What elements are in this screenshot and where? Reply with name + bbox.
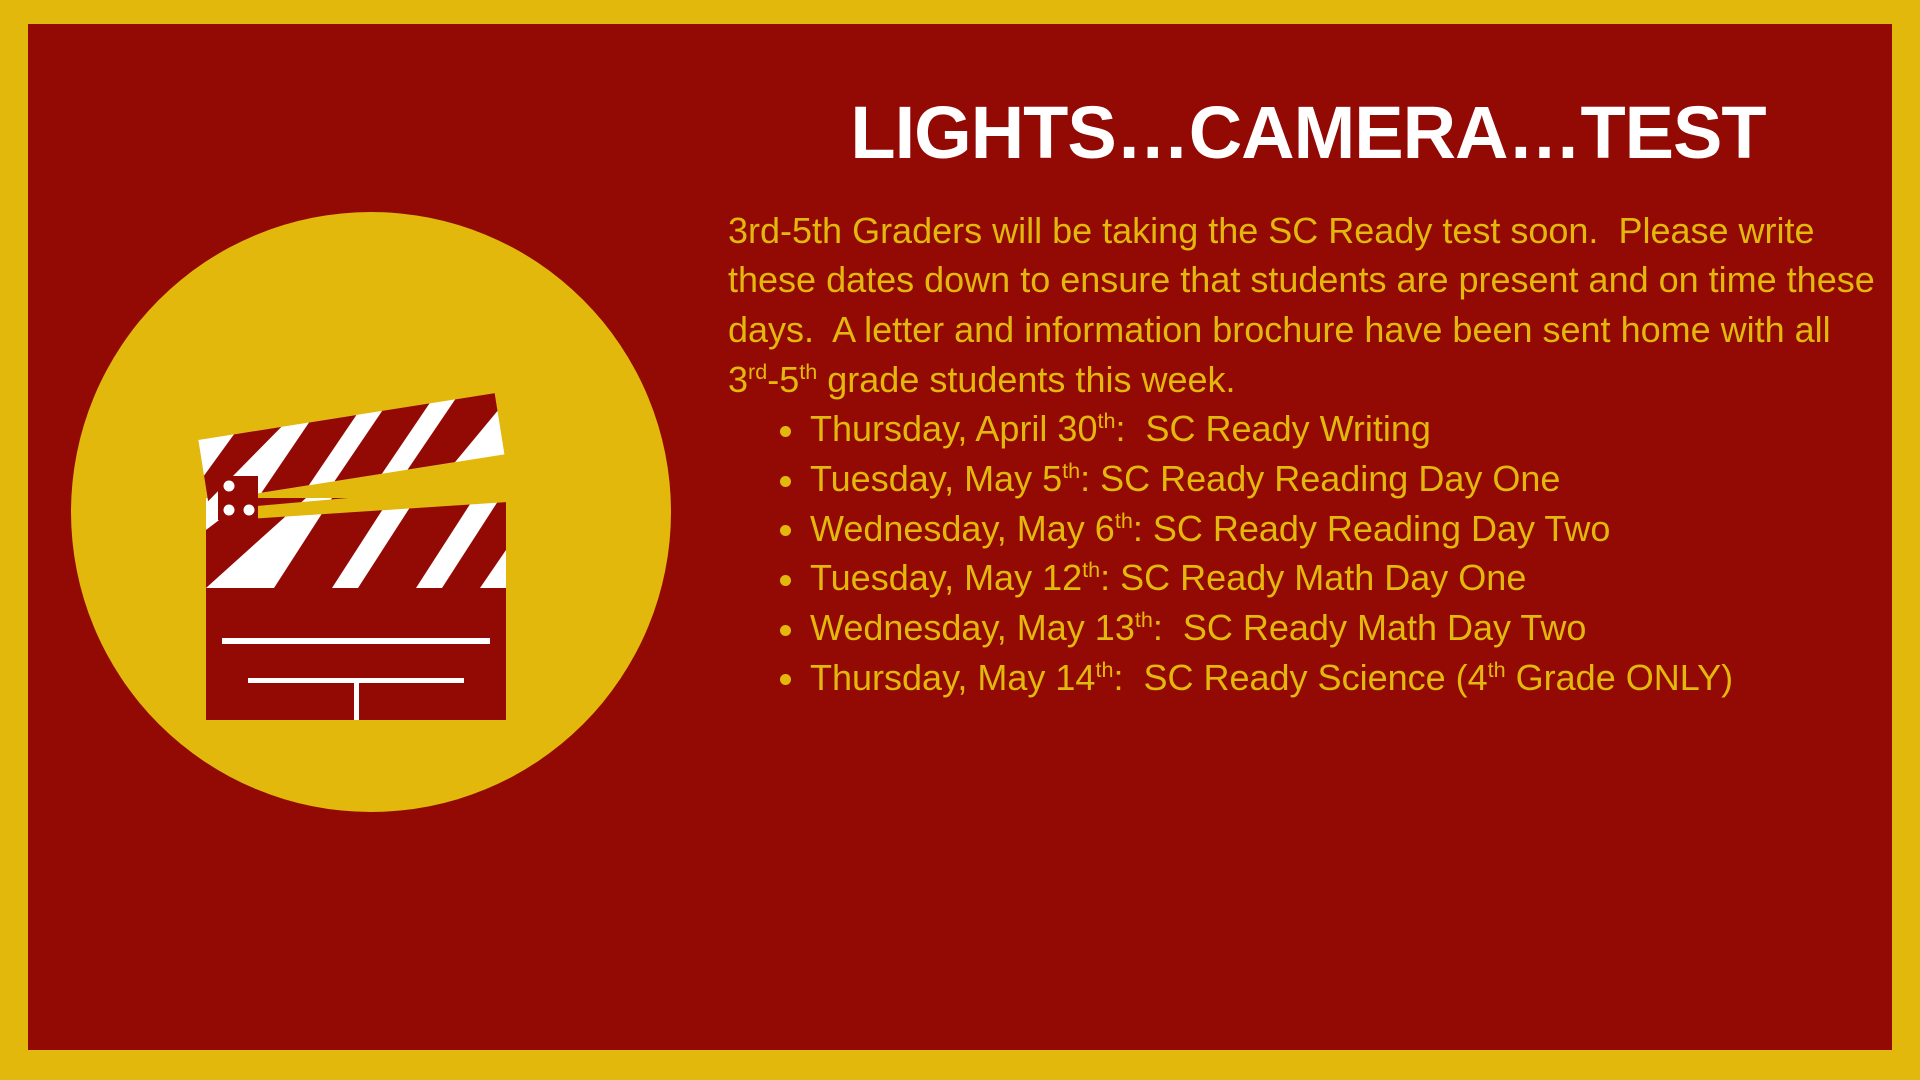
ordinal-superscript: th [1115,508,1133,533]
bullet-dot-icon [780,625,791,636]
poster-root: LIGHTS…CAMERA…TEST 3rd-5th Graders will … [0,0,1920,1080]
bullet-dot-icon [780,575,791,586]
ordinal-superscript: th [1488,657,1506,682]
test-date-item: Wednesday, May 13th: SC Ready Math Day T… [780,603,1888,653]
test-date-item: Thursday, April 30th: SC Ready Writing [780,404,1888,454]
bullet-dot-icon [780,525,791,536]
bullet-dot-icon [780,426,791,437]
ordinal-superscript: rd [748,359,767,384]
test-date-text: Thursday, April 30th: SC Ready Writing [810,408,1431,449]
test-date-text: Tuesday, May 5th: SC Ready Reading Day O… [810,458,1560,499]
bullet-dot-icon [780,674,791,685]
test-date-item: Wednesday, May 6th: SC Ready Reading Day… [780,504,1888,554]
body-block: 3rd-5th Graders will be taking the SC Re… [728,206,1888,703]
test-date-text: Wednesday, May 13th: SC Ready Math Day T… [810,607,1586,648]
ordinal-superscript: th [1095,657,1113,682]
poster-inner-panel: LIGHTS…CAMERA…TEST 3rd-5th Graders will … [28,24,1892,1050]
test-date-text: Tuesday, May 12th: SC Ready Math Day One [810,557,1526,598]
clapperboard-icon [196,380,536,720]
test-date-text: Wednesday, May 6th: SC Ready Reading Day… [810,508,1610,549]
ordinal-superscript: th [1135,607,1153,632]
illustration-area [46,190,686,830]
ordinal-superscript: th [799,359,817,384]
test-date-item: Thursday, May 14th: SC Ready Science (4t… [780,653,1888,703]
test-date-item: Tuesday, May 12th: SC Ready Math Day One [780,553,1888,603]
ordinal-superscript: th [1082,557,1100,582]
ordinal-superscript: th [1062,458,1080,483]
page-title: LIGHTS…CAMERA…TEST [728,24,1888,172]
bullet-dot-icon [780,476,791,487]
test-date-text: Thursday, May 14th: SC Ready Science (4t… [810,657,1733,698]
test-dates-list: Thursday, April 30th: SC Ready WritingTu… [728,404,1888,702]
content-column: LIGHTS…CAMERA…TEST 3rd-5th Graders will … [728,24,1888,1050]
ordinal-superscript: th [1097,408,1115,433]
test-date-item: Tuesday, May 5th: SC Ready Reading Day O… [780,454,1888,504]
intro-paragraph: 3rd-5th Graders will be taking the SC Re… [728,206,1888,405]
